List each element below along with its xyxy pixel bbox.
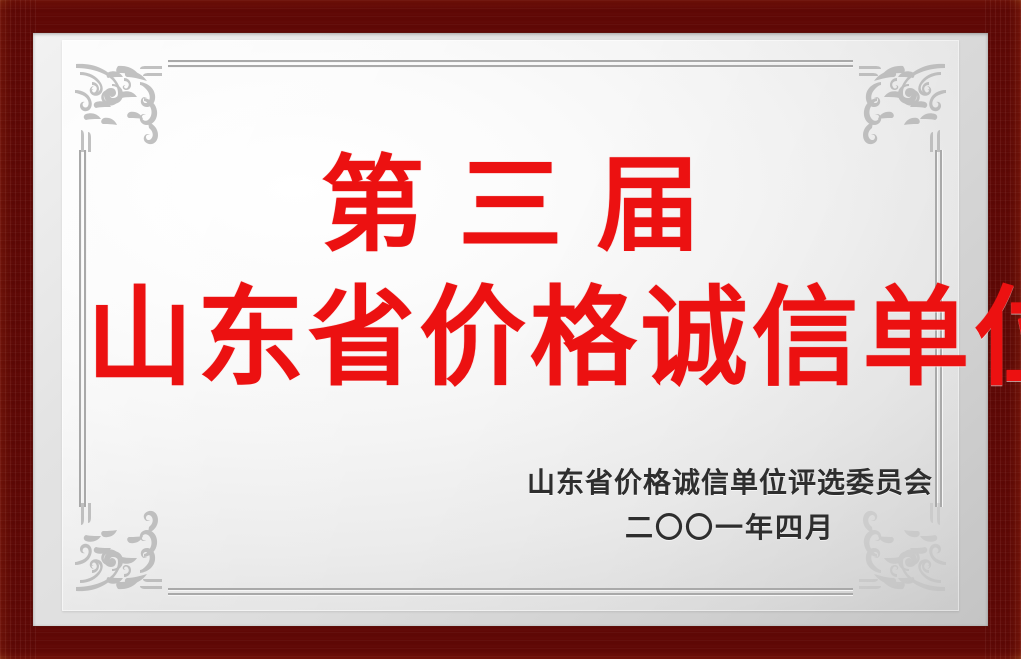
award-plaque: 第三届 山东省价格诚信单位 山东省价格诚信单位评选委员会 二〇〇一年四月 [0, 0, 1021, 659]
border-rule-right [934, 150, 943, 507]
plaque-plate [62, 40, 959, 611]
border-rule-top [168, 59, 853, 68]
border-rule-bottom [168, 587, 853, 596]
border-rule-left [78, 150, 87, 507]
